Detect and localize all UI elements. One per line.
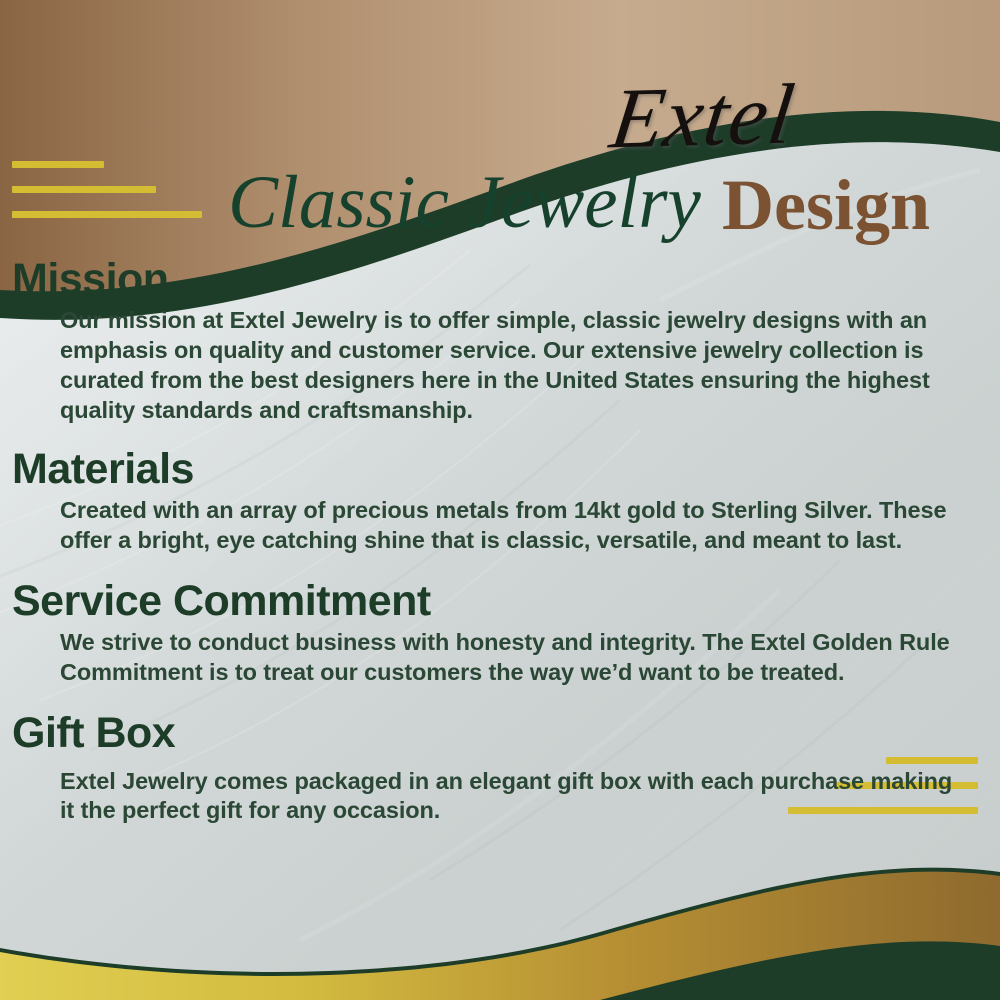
section-materials: Materials Created with an array of preci… <box>0 446 1000 556</box>
section-heading-materials: Materials <box>12 446 1000 492</box>
section-body-materials: Created with an array of precious metals… <box>60 496 966 556</box>
section-gift-box: Gift Box Extel Jewelry comes packaged in… <box>0 710 1000 826</box>
section-body-mission: Our mission at Extel Jewelry is to offer… <box>60 306 966 425</box>
section-service-commitment: Service Commitment We strive to conduct … <box>0 578 1000 688</box>
section-heading-gift-box: Gift Box <box>12 710 1000 756</box>
page-title: Classic Jewelry Design <box>0 160 1000 250</box>
poster-canvas: Extel Classic Jewelry Design Mission Our… <box>0 0 1000 1000</box>
section-heading-service-commitment: Service Commitment <box>12 578 1000 624</box>
section-body-gift-box: Extel Jewelry comes packaged in an elega… <box>60 767 966 827</box>
page-title-classic-jewelry: Classic Jewelry <box>228 160 701 246</box>
page-title-design: Design <box>722 162 930 248</box>
section-heading-mission: Mission <box>12 256 1000 302</box>
section-body-service-commitment: We strive to conduct business with hones… <box>60 628 966 688</box>
content-sections: Mission Our mission at Extel Jewelry is … <box>0 256 1000 836</box>
brand-script-logo: Extel <box>606 71 800 162</box>
section-mission: Mission Our mission at Extel Jewelry is … <box>0 256 1000 426</box>
